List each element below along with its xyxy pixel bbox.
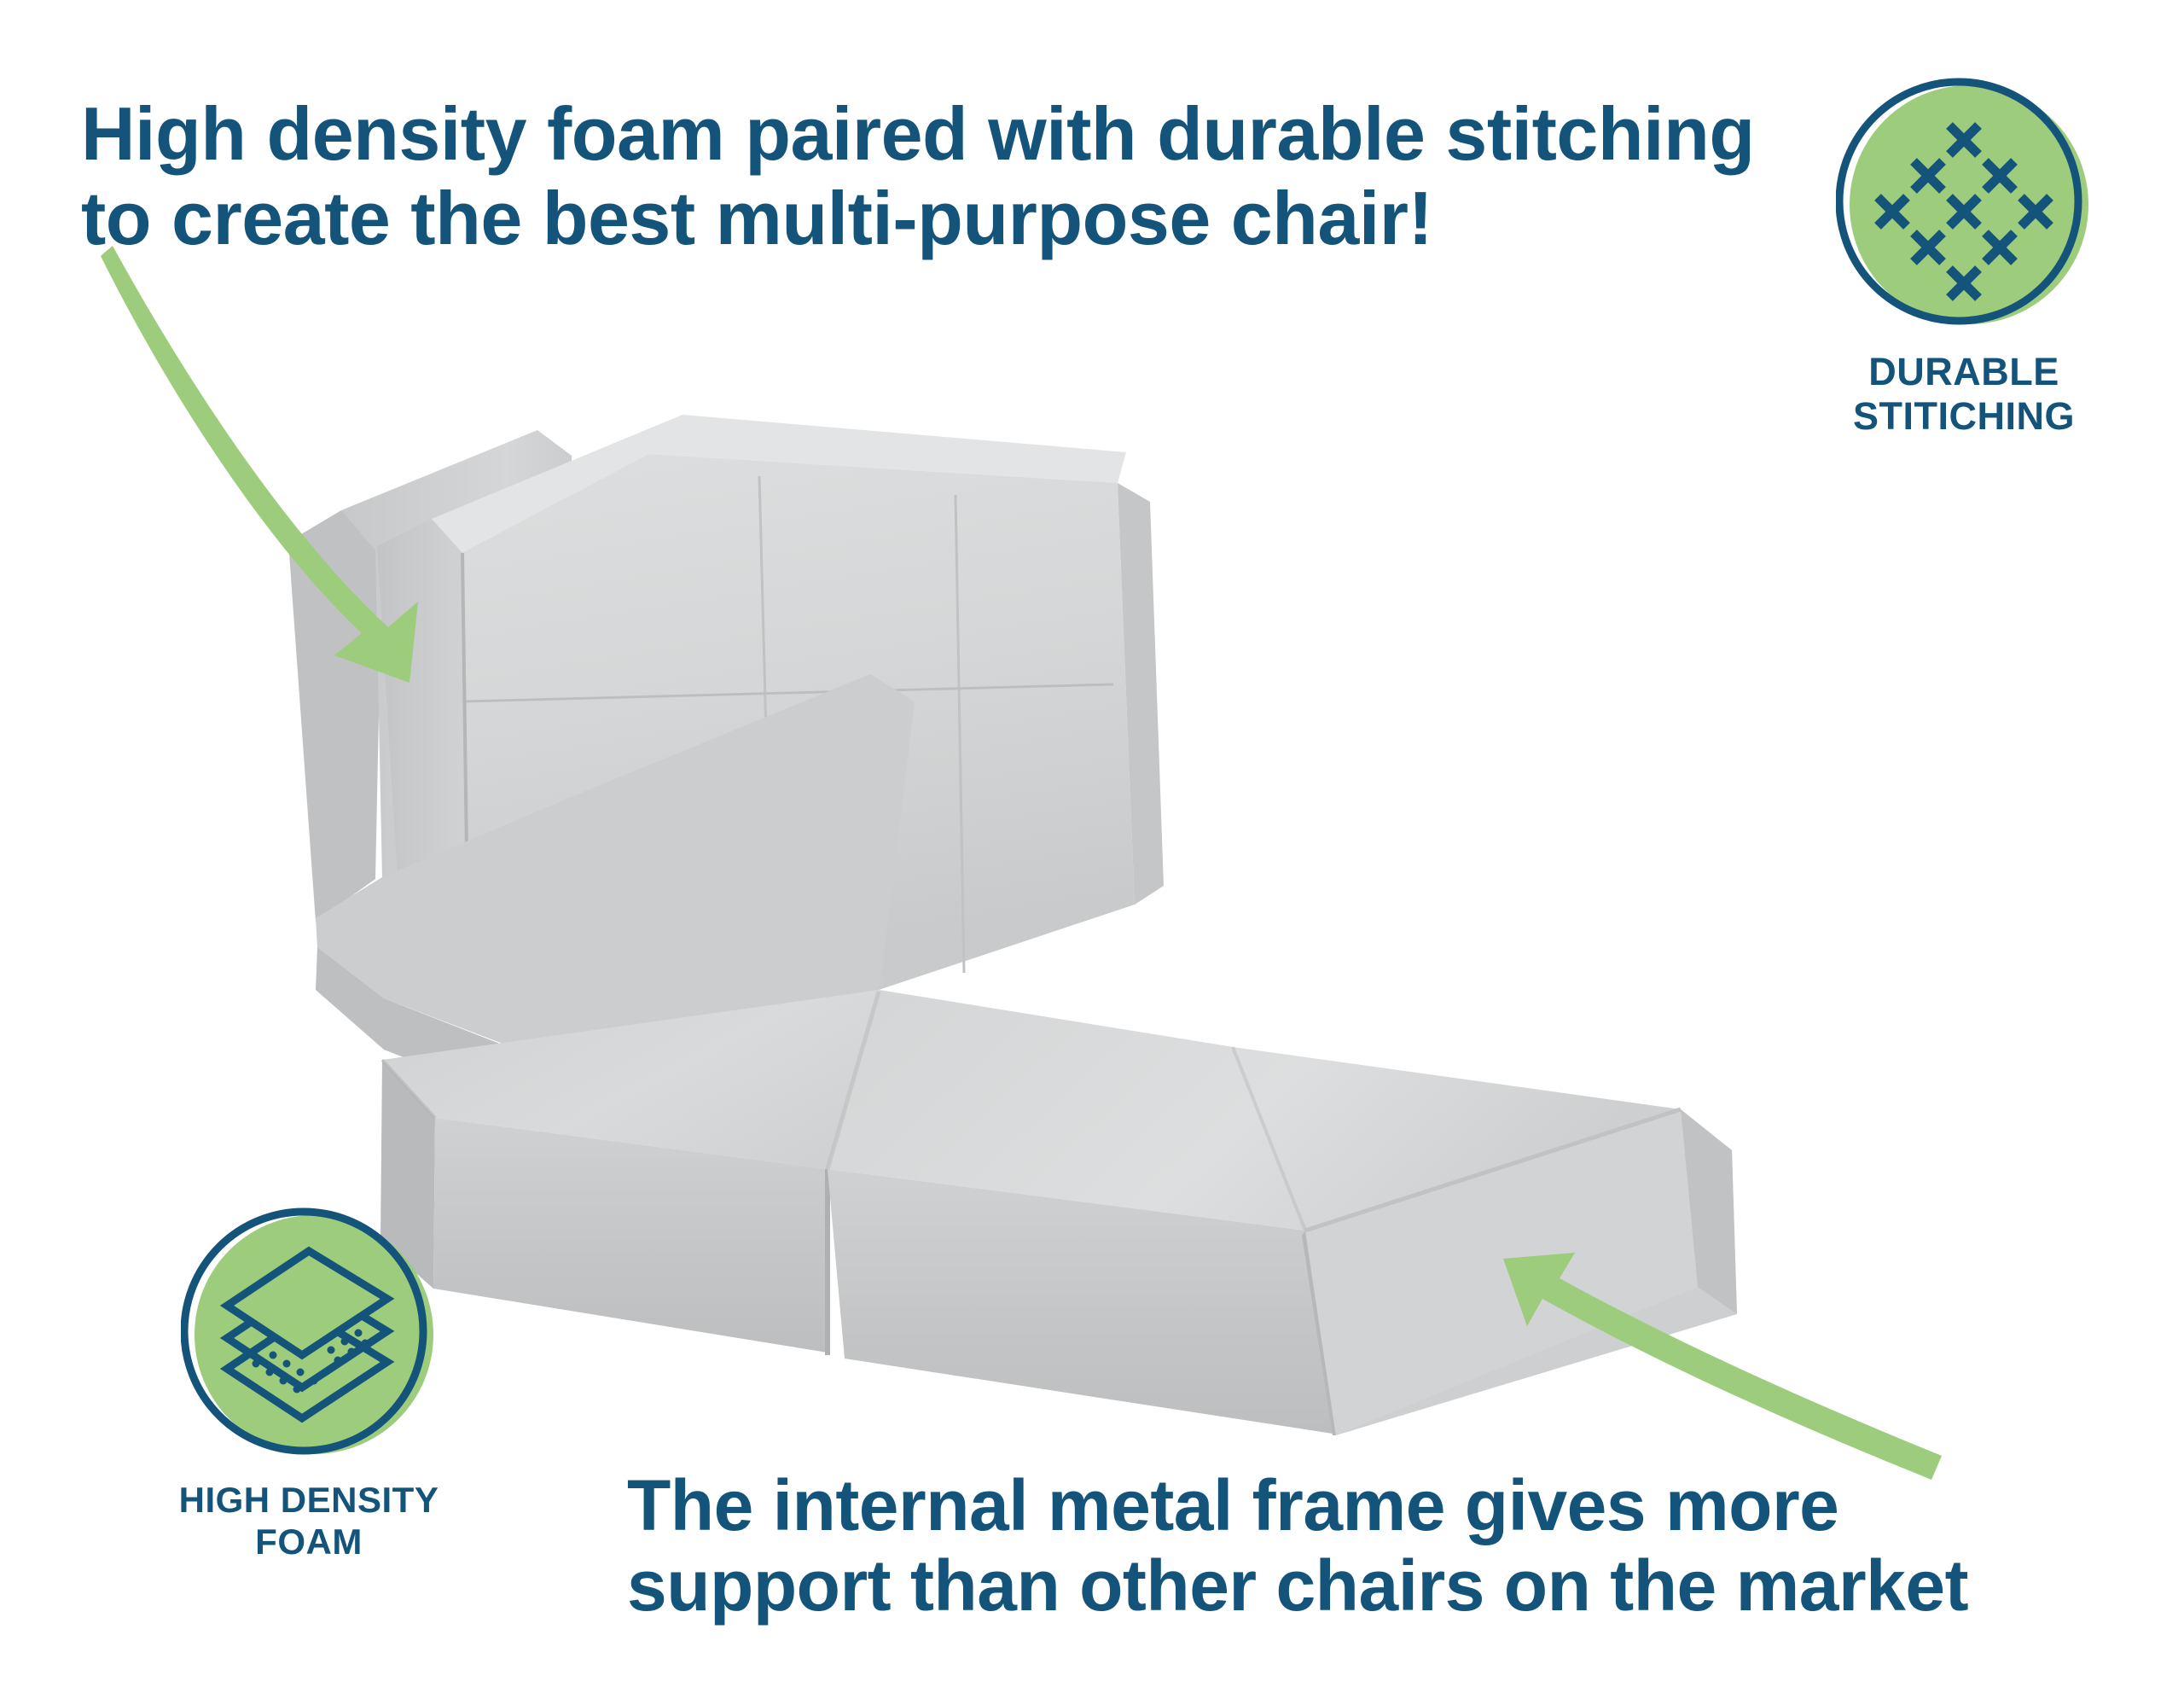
headline-top: High density foam paired with durable st… bbox=[81, 92, 1787, 260]
badge-high-density-foam-label: HIGH DENSITY FOAM bbox=[147, 1480, 471, 1562]
badge-durable-stitching: DURABLE STITICHING bbox=[1802, 75, 2126, 439]
product-image-folding-chair bbox=[282, 401, 1971, 1459]
badge-durable-stitching-label: DURABLE STITICHING bbox=[1802, 350, 2126, 439]
stacked-foam-layers-icon bbox=[181, 1205, 437, 1461]
stitch-x-pattern-icon bbox=[1836, 75, 2092, 331]
headline-bottom: The internal metal frame gives more supp… bbox=[627, 1465, 2163, 1626]
infographic-canvas: High density foam paired with durable st… bbox=[0, 0, 2184, 1699]
badge-high-density-foam: HIGH DENSITY FOAM bbox=[147, 1205, 471, 1562]
